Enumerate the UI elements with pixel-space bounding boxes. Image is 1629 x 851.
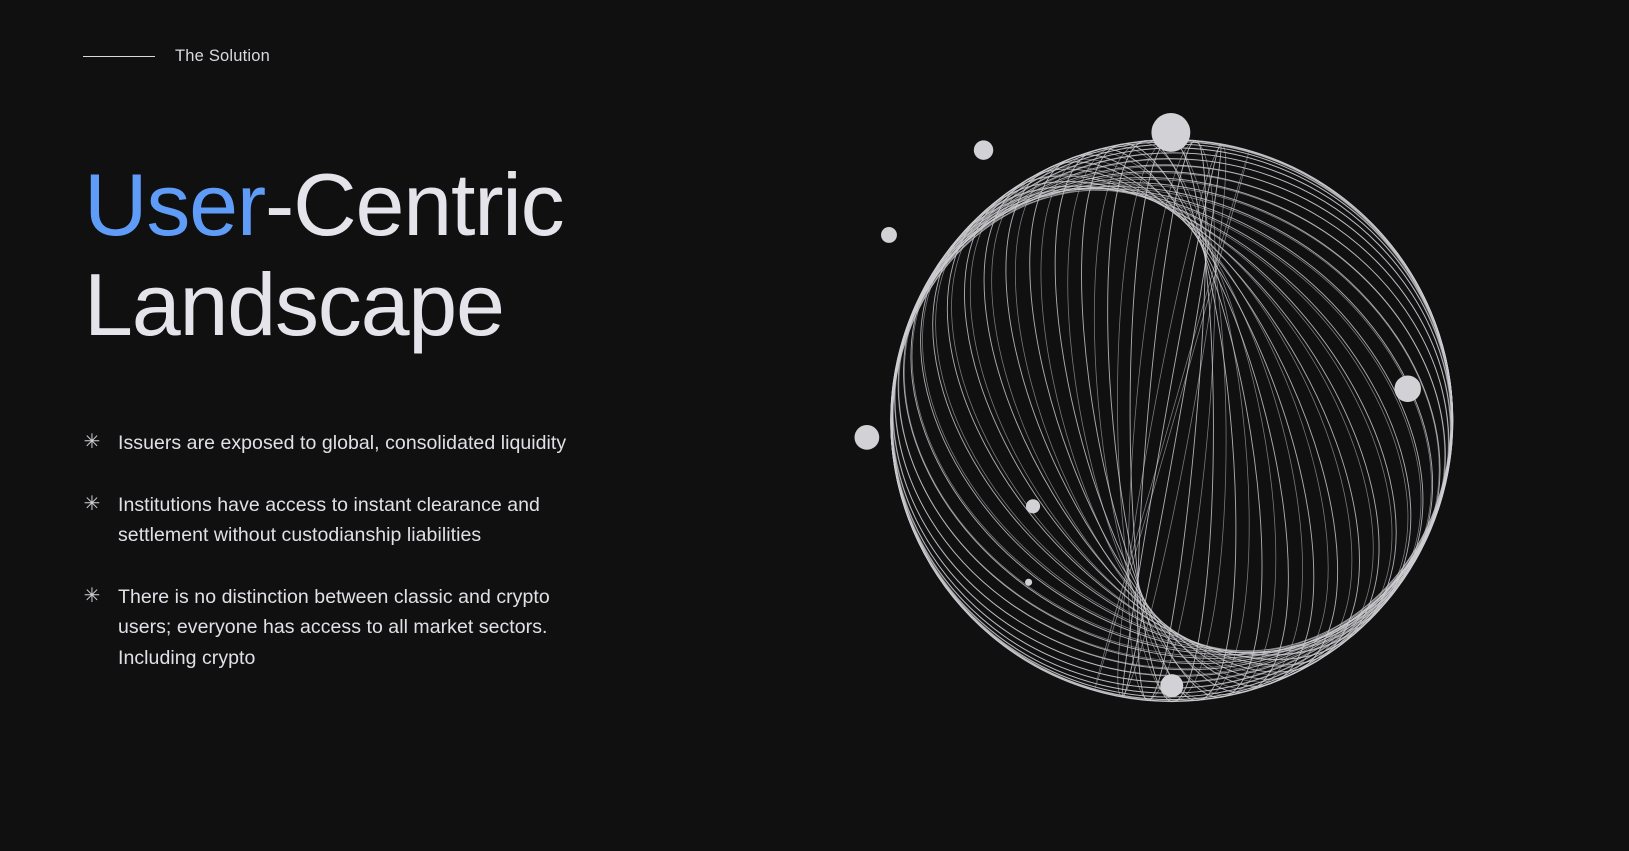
sphere-ring	[908, 108, 1437, 734]
node-interior-small	[1025, 579, 1032, 586]
sphere-ring	[825, 96, 1518, 746]
asterisk-icon: ✳	[82, 428, 102, 455]
sphere-ring	[866, 125, 1478, 715]
list-item-label: Institutions have access to instant clea…	[118, 490, 602, 551]
node-upper-left-small	[881, 227, 897, 243]
sphere-ring	[1124, 138, 1220, 702]
sphere-ring	[843, 95, 1501, 747]
eyebrow-label: The Solution	[175, 47, 270, 66]
sphere-ring	[1114, 140, 1230, 701]
spirograph-sphere-graphic	[790, 60, 1550, 820]
page-title: User-CentricLandscape	[84, 155, 784, 356]
eyebrow: The Solution	[83, 47, 270, 66]
node-top-left	[974, 140, 993, 159]
asterisk-icon: ✳	[82, 582, 102, 609]
node-left-large	[855, 425, 880, 450]
page-title-accent: User	[84, 155, 265, 254]
node-bottom	[1160, 674, 1183, 697]
sphere-ring	[837, 90, 1506, 752]
sphere-ring	[870, 142, 1473, 700]
sphere-ring	[819, 69, 1524, 772]
sphere-ring	[831, 106, 1513, 734]
sphere-ring	[823, 99, 1520, 741]
sphere-ring	[833, 95, 1511, 746]
list-item-label: Issuers are exposed to global, consolida…	[118, 428, 566, 459]
sphere-ring	[1116, 143, 1228, 699]
sphere-ring	[1093, 151, 1251, 690]
sphere-ring	[843, 98, 1500, 744]
slide-root: The Solution User-CentricLandscape ✳ Iss…	[0, 0, 1629, 851]
bullet-list: ✳ Issuers are exposed to global, consoli…	[82, 428, 602, 673]
sphere-ring	[851, 126, 1493, 715]
node-interior-mid	[1026, 499, 1040, 513]
sphere-ring	[823, 93, 1520, 748]
list-item: ✳ Institutions have access to instant cl…	[82, 490, 602, 551]
sphere-ring	[821, 95, 1523, 746]
list-item-label: There is no distinction between classic …	[118, 582, 602, 674]
list-item: ✳ There is no distinction between classi…	[82, 582, 602, 674]
eyebrow-rule	[83, 56, 155, 57]
sphere-ring	[880, 141, 1464, 699]
asterisk-icon: ✳	[82, 490, 102, 517]
sphere-svg	[790, 60, 1550, 820]
page-title-line1-rest: -Centric	[265, 155, 563, 254]
sphere-ring	[823, 74, 1521, 767]
node-top-right-large	[1151, 113, 1190, 152]
list-item: ✳ Issuers are exposed to global, consoli…	[82, 428, 602, 459]
page-title-line2: Landscape	[84, 255, 504, 354]
sphere-ring	[1102, 142, 1241, 699]
sphere-ring	[823, 99, 1520, 743]
node-right	[1394, 375, 1421, 402]
